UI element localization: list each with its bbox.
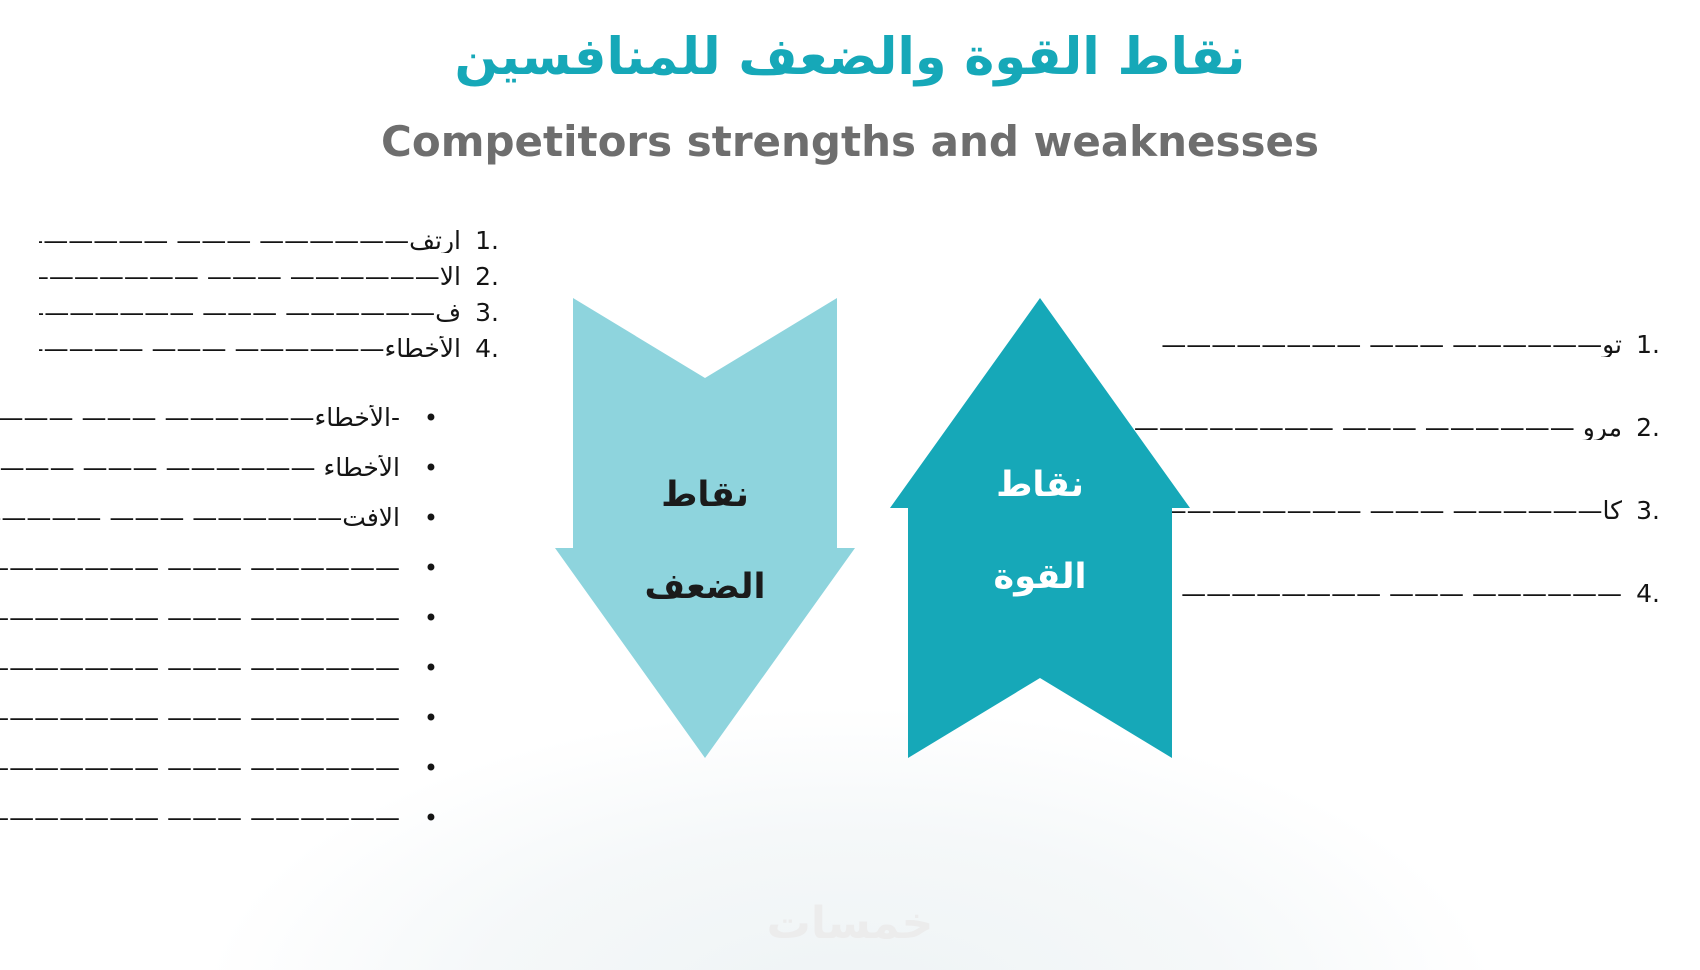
list-item: • الافت—————— ——— ————————	[0, 505, 438, 530]
left-bulleted-list: • -الأخطاء—————— ——— ———————— • الأخطاء …	[0, 405, 438, 855]
list-item: • -الأخطاء—————— ——— ————————	[0, 405, 438, 430]
list-item: • —————— ——— ————————	[0, 605, 438, 630]
list-item: • —————— ——— ————————	[0, 655, 438, 680]
bullet-icon: •	[400, 656, 438, 680]
list-item-marker: .4	[461, 336, 499, 361]
weaknesses-label-line1: نقاط	[555, 478, 855, 513]
bullet-icon: •	[400, 756, 438, 780]
bullet-icon: •	[400, 506, 438, 530]
list-item: • —————— ——— ————————	[0, 755, 438, 780]
arrow-down-icon	[555, 298, 855, 758]
strengths-label-line2: القوة	[890, 560, 1190, 595]
list-item-marker: .3	[1622, 498, 1660, 523]
list-item-text: —————— ——— ————————	[0, 755, 400, 780]
strengths-arrow: نقاط القوة	[890, 298, 1190, 758]
list-item: .2 الا—————— ——— ————————	[39, 264, 499, 289]
list-item-marker: .2	[1622, 415, 1660, 440]
list-item-marker: .4	[1622, 581, 1660, 606]
watermark: خمسات	[0, 898, 1700, 949]
list-item: • —————— ——— ————————	[0, 555, 438, 580]
list-item: • —————— ——— ————————	[0, 705, 438, 730]
list-item-text: الافت—————— ——— ————————	[0, 505, 400, 530]
list-item-marker: .3	[461, 300, 499, 325]
list-item-marker: .1	[461, 228, 499, 253]
bullet-icon: •	[400, 406, 438, 430]
list-item-marker: .1	[1622, 332, 1660, 357]
list-item-text: مرو —————— ——— ————————	[1134, 415, 1622, 440]
weaknesses-label-line2: الضعف	[555, 570, 855, 605]
list-item: • —————— ——— ————————	[0, 805, 438, 830]
bullet-icon: •	[400, 556, 438, 580]
list-item: .4 الأخطاء—————— ——— ————————	[39, 336, 499, 361]
weaknesses-arrow: نقاط الضعف	[555, 298, 855, 758]
list-item-text: الأخطاء —————— ——— ————————	[0, 455, 400, 480]
page-title-arabic: نقاط القوة والضعف للمنافسين	[0, 26, 1700, 90]
list-item-marker: .2	[461, 264, 499, 289]
list-item: .3 ف—————— ——— ————————	[39, 300, 499, 325]
strengths-label-line1: نقاط	[890, 468, 1190, 503]
list-item-text: -الأخطاء—————— ——— ————————	[0, 405, 400, 430]
list-item-text: —————— ——— ————————	[0, 605, 400, 630]
list-item-text: —————— ——— ————————	[0, 655, 400, 680]
list-item-text: ف—————— ——— ————————	[39, 300, 461, 325]
list-item-text: الا—————— ——— ————————	[39, 264, 461, 289]
list-item-text: ارتف—————— ——— ————————	[39, 228, 461, 253]
list-item-text: —————— ——— ————————	[0, 705, 400, 730]
list-item: • الأخطاء —————— ——— ————————	[0, 455, 438, 480]
list-item: .1 ارتف—————— ——— ————————	[39, 228, 499, 253]
bullet-icon: •	[400, 706, 438, 730]
list-item-text: —————— ——— ————————	[1181, 581, 1622, 606]
bullet-icon: •	[400, 606, 438, 630]
bullet-icon: •	[400, 806, 438, 830]
page-subtitle-english: Competitors strengths and weaknesses	[0, 116, 1700, 169]
arrow-up-icon	[890, 298, 1190, 758]
infographic-slide: نقاط القوة والضعف للمنافسين Competitors …	[0, 0, 1700, 970]
list-item-text: الأخطاء—————— ——— ————————	[39, 336, 461, 361]
list-item-text: —————— ——— ————————	[0, 555, 400, 580]
left-numbered-list: .1 ارتف—————— ——— ———————— .2 الا—————— …	[39, 228, 499, 372]
list-item-text: تو—————— ——— ————————	[1161, 332, 1622, 357]
list-item-text: —————— ——— ————————	[0, 805, 400, 830]
bullet-icon: •	[400, 456, 438, 480]
